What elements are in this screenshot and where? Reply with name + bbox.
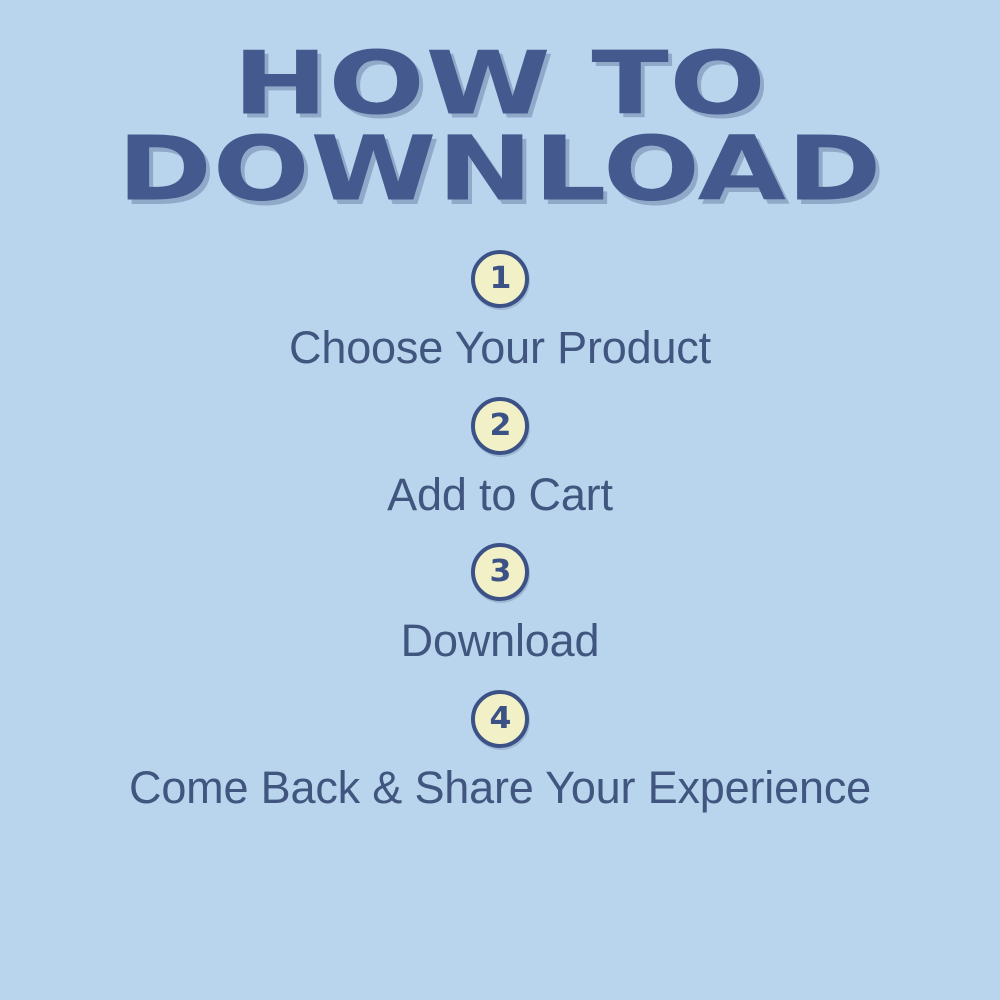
steps-list: 1 Choose Your Product 2 Add to Cart 3 Do… — [0, 250, 1000, 812]
step-number-2: 2 — [489, 411, 511, 441]
step-label-2: Add to Cart — [387, 471, 613, 520]
step-item-1: 1 Choose Your Product — [0, 250, 1000, 373]
step-label-4: Come Back & Share Your Experience — [129, 764, 871, 813]
step-number-3: 3 — [489, 557, 511, 587]
step-item-2: 2 Add to Cart — [0, 397, 1000, 520]
how-to-download-poster: HOW TO DOWNLOAD 1 Choose Your Product 2 … — [0, 0, 1000, 1000]
step-badge-1: 1 — [471, 250, 529, 308]
step-item-3: 3 Download — [0, 543, 1000, 666]
step-label-1: Choose Your Product — [289, 324, 711, 373]
step-number-1: 1 — [489, 264, 511, 294]
step-badge-4: 4 — [471, 690, 529, 748]
step-badge-2: 2 — [471, 397, 529, 455]
step-item-4: 4 Come Back & Share Your Experience — [0, 690, 1000, 813]
step-badge-3: 3 — [471, 543, 529, 601]
page-title-line-1: HOW TO — [120, 44, 879, 125]
page-title-line-2: DOWNLOAD — [117, 129, 882, 211]
page-title: HOW TO DOWNLOAD — [212, 44, 787, 208]
step-number-4: 4 — [489, 704, 511, 734]
step-label-3: Download — [401, 617, 600, 666]
